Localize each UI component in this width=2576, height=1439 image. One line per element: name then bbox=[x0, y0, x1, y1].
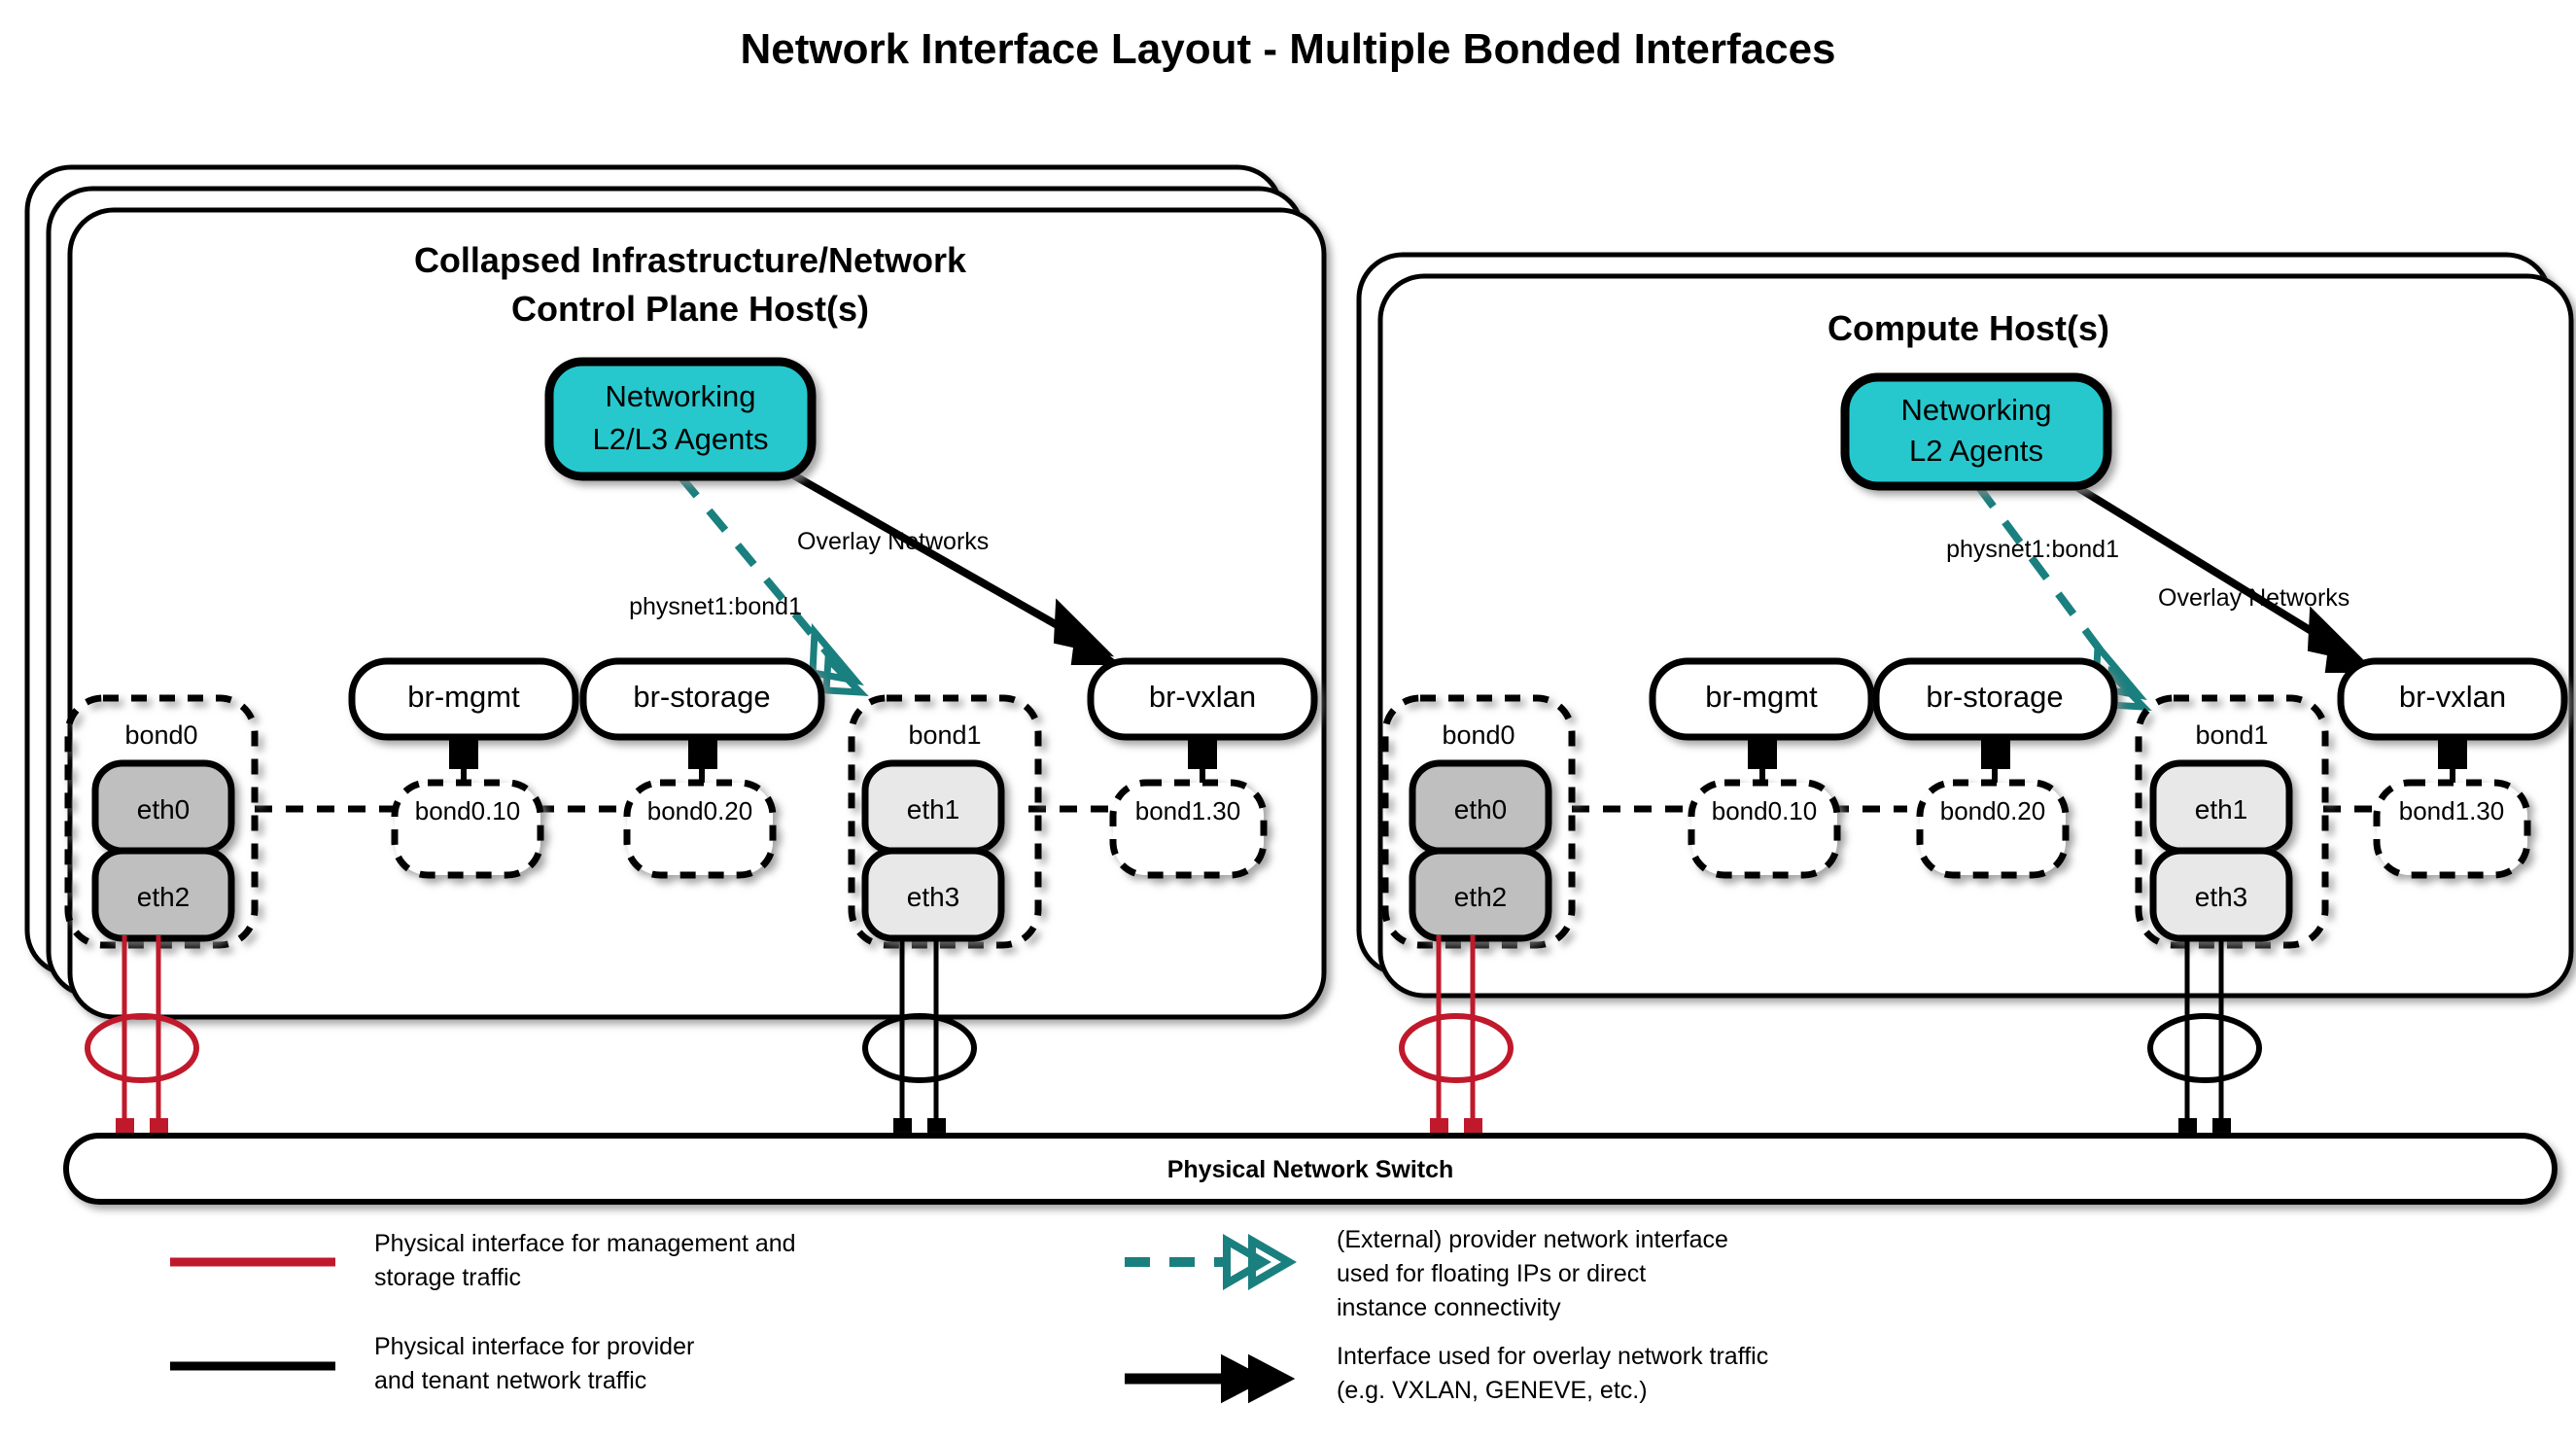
br-vxlan-label: br-vxlan bbox=[1149, 680, 1256, 714]
host-title-line1: Collapsed Infrastructure/Network bbox=[414, 240, 967, 280]
interface-node-eth1[interactable]: eth1 bbox=[865, 763, 1001, 851]
host-panel-control: Collapsed Infrastructure/Network Control… bbox=[27, 167, 1324, 1149]
bridge-node-br-vxlan[interactable]: br-vxlan bbox=[1091, 661, 1314, 737]
compute-eth2-label: eth2 bbox=[1454, 882, 1508, 912]
eth1-label: eth1 bbox=[907, 794, 960, 825]
interface-node-eth3[interactable]: eth3 bbox=[865, 851, 1001, 938]
legend-external-line3: instance connectivity bbox=[1337, 1294, 1561, 1321]
compute-bridge-node-br-vxlan[interactable]: br-vxlan bbox=[2341, 661, 2564, 737]
host-title-line2: Control Plane Host(s) bbox=[511, 289, 869, 329]
compute-title-line1: Compute Host(s) bbox=[1828, 308, 2109, 348]
legend-item-overlay: Interface used for overlay network traff… bbox=[1125, 1343, 1768, 1404]
compute-bond0-label: bond0 bbox=[1442, 720, 1514, 750]
interface-node-eth2[interactable]: eth2 bbox=[95, 851, 231, 938]
legend-overlay-line1: Interface used for overlay network traff… bbox=[1337, 1343, 1768, 1370]
compute-cable-bundle-ellipse-black bbox=[2150, 1016, 2259, 1080]
agent-label-line1: Networking bbox=[605, 379, 755, 413]
bridge-node-br-storage[interactable]: br-storage bbox=[583, 661, 821, 737]
legend: Physical interface for management and st… bbox=[170, 1226, 1768, 1404]
host-panel-compute: Compute Host(s) physnet1:bond1 Overlay N… bbox=[1359, 255, 2571, 1149]
bridge-node-br-mgmt[interactable]: br-mgmt bbox=[352, 661, 575, 737]
agent-label-line2: L2/L3 Agents bbox=[593, 422, 769, 456]
compute-bond1-30-label: bond1.30 bbox=[2399, 796, 2504, 825]
br-storage-port bbox=[688, 736, 717, 769]
compute-bridge-node-br-storage[interactable]: br-storage bbox=[1876, 661, 2114, 737]
eth3-label: eth3 bbox=[907, 882, 960, 912]
legend-item-mgmt-storage: Physical interface for management and st… bbox=[170, 1230, 796, 1291]
compute-br-storage-port bbox=[1981, 736, 2010, 769]
bond0-label: bond0 bbox=[124, 720, 197, 750]
legend-item-external-provider: (External) provider network interface us… bbox=[1125, 1226, 1728, 1321]
legend-mgmt-line2: storage traffic bbox=[374, 1264, 521, 1291]
legend-mgmt-line1: Physical interface for management and bbox=[374, 1230, 796, 1257]
legend-provider-line2: and tenant network traffic bbox=[374, 1367, 646, 1394]
compute-interface-node-eth2[interactable]: eth2 bbox=[1412, 851, 1549, 938]
compute-edge-label-physnet: physnet1:bond1 bbox=[1946, 536, 2119, 563]
legend-item-provider-tenant: Physical interface for provider and tena… bbox=[170, 1333, 694, 1394]
compute-eth3-label: eth3 bbox=[2195, 882, 2248, 912]
compute-agent-label-line2: L2 Agents bbox=[1909, 434, 2043, 468]
bond1-30-label: bond1.30 bbox=[1135, 796, 1240, 825]
eth0-label: eth0 bbox=[137, 794, 191, 825]
networking-agents-node[interactable]: Networking L2/L3 Agents bbox=[549, 362, 812, 476]
compute-interface-node-eth1[interactable]: eth1 bbox=[2153, 763, 2289, 851]
compute-vlan-node-bond0-20[interactable]: bond0.20 bbox=[1920, 783, 2066, 875]
br-vxlan-port bbox=[1188, 736, 1217, 769]
compute-vlan-node-bond0-10[interactable]: bond0.10 bbox=[1691, 783, 1837, 875]
vlan-node-bond0-10[interactable]: bond0.10 bbox=[395, 783, 540, 875]
page-title: Network Interface Layout - Multiple Bond… bbox=[740, 25, 1835, 73]
legend-external-line2: used for floating IPs or direct bbox=[1337, 1260, 1646, 1287]
interface-node-eth0[interactable]: eth0 bbox=[95, 763, 231, 851]
cable-bundle-ellipse-black bbox=[865, 1016, 974, 1080]
legend-external-line1: (External) provider network interface bbox=[1337, 1226, 1728, 1253]
edge-label-physnet: physnet1:bond1 bbox=[629, 593, 802, 620]
br-mgmt-label: br-mgmt bbox=[407, 680, 520, 714]
legend-black-arrowhead-inner-icon bbox=[1250, 1357, 1291, 1400]
compute-edge-label-overlay: Overlay Networks bbox=[2158, 584, 2350, 612]
compute-eth0-label: eth0 bbox=[1454, 794, 1508, 825]
legend-provider-line1: Physical interface for provider bbox=[374, 1333, 694, 1360]
eth2-label: eth2 bbox=[137, 882, 191, 912]
compute-eth1-label: eth1 bbox=[2195, 794, 2248, 825]
compute-bond0-10-label: bond0.10 bbox=[1712, 796, 1817, 825]
compute-br-storage-label: br-storage bbox=[1926, 680, 2063, 714]
network-diagram: Network Interface Layout - Multiple Bond… bbox=[0, 0, 2576, 1439]
bond1-label: bond1 bbox=[908, 720, 981, 750]
legend-overlay-line2: (e.g. VXLAN, GENEVE, etc.) bbox=[1337, 1377, 1648, 1404]
compute-cable-bundle-ellipse-red bbox=[1402, 1016, 1511, 1080]
compute-vlan-node-bond1-30[interactable]: bond1.30 bbox=[2377, 783, 2527, 875]
compute-br-vxlan-port bbox=[2438, 736, 2467, 769]
cable-bundle-ellipse-red bbox=[87, 1016, 196, 1080]
bond0-10-label: bond0.10 bbox=[415, 796, 520, 825]
compute-bond1-label: bond1 bbox=[2195, 720, 2268, 750]
compute-br-mgmt-port bbox=[1748, 736, 1777, 769]
bond0-20-label: bond0.20 bbox=[647, 796, 752, 825]
br-storage-label: br-storage bbox=[633, 680, 770, 714]
compute-agent-label-line1: Networking bbox=[1900, 393, 2051, 427]
compute-br-mgmt-label: br-mgmt bbox=[1705, 680, 1818, 714]
vlan-node-bond0-20[interactable]: bond0.20 bbox=[627, 783, 773, 875]
compute-interface-node-eth0[interactable]: eth0 bbox=[1412, 763, 1549, 851]
switch-label: Physical Network Switch bbox=[1167, 1156, 1454, 1183]
compute-interface-node-eth3[interactable]: eth3 bbox=[2153, 851, 2289, 938]
br-mgmt-port bbox=[449, 736, 478, 769]
physical-network-switch[interactable]: Physical Network Switch bbox=[66, 1136, 2555, 1202]
compute-networking-agents-node[interactable]: Networking L2 Agents bbox=[1845, 377, 2107, 486]
edge-label-overlay: Overlay Networks bbox=[797, 528, 989, 555]
compute-bond0-20-label: bond0.20 bbox=[1940, 796, 2045, 825]
diagram-canvas: Network Interface Layout - Multiple Bond… bbox=[0, 0, 2576, 1439]
compute-br-vxlan-label: br-vxlan bbox=[2399, 680, 2506, 714]
compute-bridge-node-br-mgmt[interactable]: br-mgmt bbox=[1653, 661, 1871, 737]
vlan-node-bond1-30[interactable]: bond1.30 bbox=[1113, 783, 1264, 875]
